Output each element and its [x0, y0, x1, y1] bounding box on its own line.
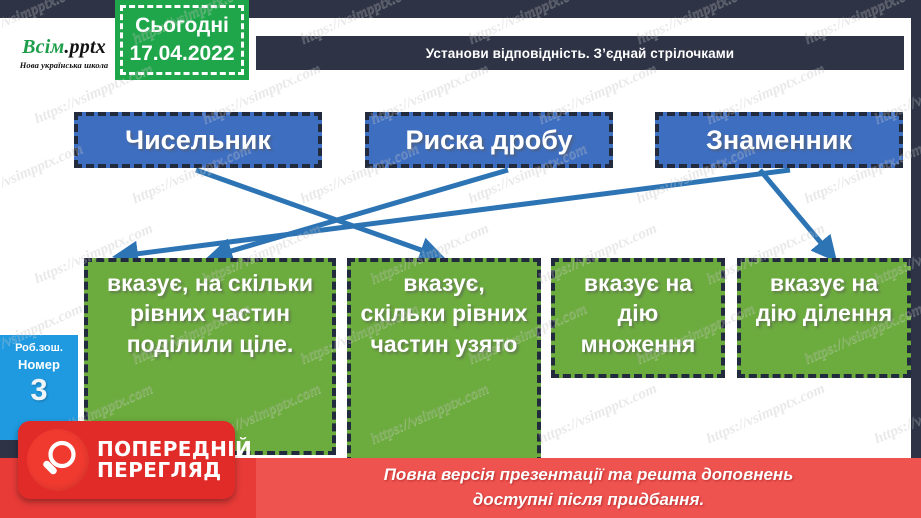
term-card-numerator[interactable]: Чисельник	[74, 112, 322, 168]
bottom-ribbon-line2: доступні після придбання.	[473, 488, 704, 513]
date-badge: Сьогодні 17.04.2022	[115, 0, 249, 80]
slide-canvas: Чисельник Риска дробу Знаменник вказує, …	[0, 0, 921, 518]
slide-header-bar: Установи відповідність. З’єднай стрілочк…	[256, 36, 904, 70]
term-card-label: Чисельник	[125, 125, 271, 156]
brand-logo: Всім.pptx Нова українська школа	[2, 24, 126, 82]
definition-card-label: вказує, на скільки рівних частин поділил…	[96, 268, 324, 359]
workbook-number-label: Номер	[18, 357, 60, 372]
term-card-label: Риска дробу	[405, 125, 572, 156]
definition-card-2[interactable]: вказує, скільки рівних частин узято	[347, 258, 541, 465]
preview-badge-line2: ПЕРЕГЛЯД	[97, 460, 252, 481]
slide-title: Установи відповідність. З’єднай стрілочк…	[426, 46, 734, 61]
definition-card-label: вказує на дію множення	[563, 268, 713, 359]
bottom-ribbon: Повна версія презентації та решта доповн…	[256, 458, 921, 518]
term-card-fraction-bar[interactable]: Риска дробу	[365, 112, 613, 168]
brand-logo-name: Всім	[22, 36, 64, 58]
preview-badge-text: ПОПЕРЕДНІЙ ПЕРЕГЛЯД	[97, 439, 252, 481]
term-card-denominator[interactable]: Знаменник	[655, 112, 903, 168]
workbook-number-value: 3	[30, 372, 47, 408]
definition-card-3[interactable]: вказує на дію множення	[551, 258, 725, 378]
preview-badge[interactable]: ПОПЕРЕДНІЙ ПЕРЕГЛЯД	[18, 421, 235, 499]
definition-card-label: вказує на дію ділення	[749, 268, 899, 329]
magnifier-icon	[27, 429, 89, 491]
definition-card-label: вказує, скільки рівних частин узято	[359, 268, 529, 359]
workbook-label: Роб.зош.	[15, 342, 63, 354]
bottom-ribbon-line1: Повна версія презентації та решта доповн…	[384, 463, 794, 488]
term-card-label: Знаменник	[706, 125, 852, 156]
brand-logo-subtitle: Нова українська школа	[20, 60, 109, 70]
arrow-znamennyk-to-def4	[760, 170, 832, 256]
definition-card-4[interactable]: вказує на дію ділення	[737, 258, 911, 378]
date-badge-value: 17.04.2022	[129, 40, 234, 68]
brand-logo-ext: .pptx	[64, 36, 106, 58]
date-badge-label: Сьогодні	[135, 12, 229, 40]
brand-logo-wordmark: Всім.pptx	[22, 37, 106, 57]
